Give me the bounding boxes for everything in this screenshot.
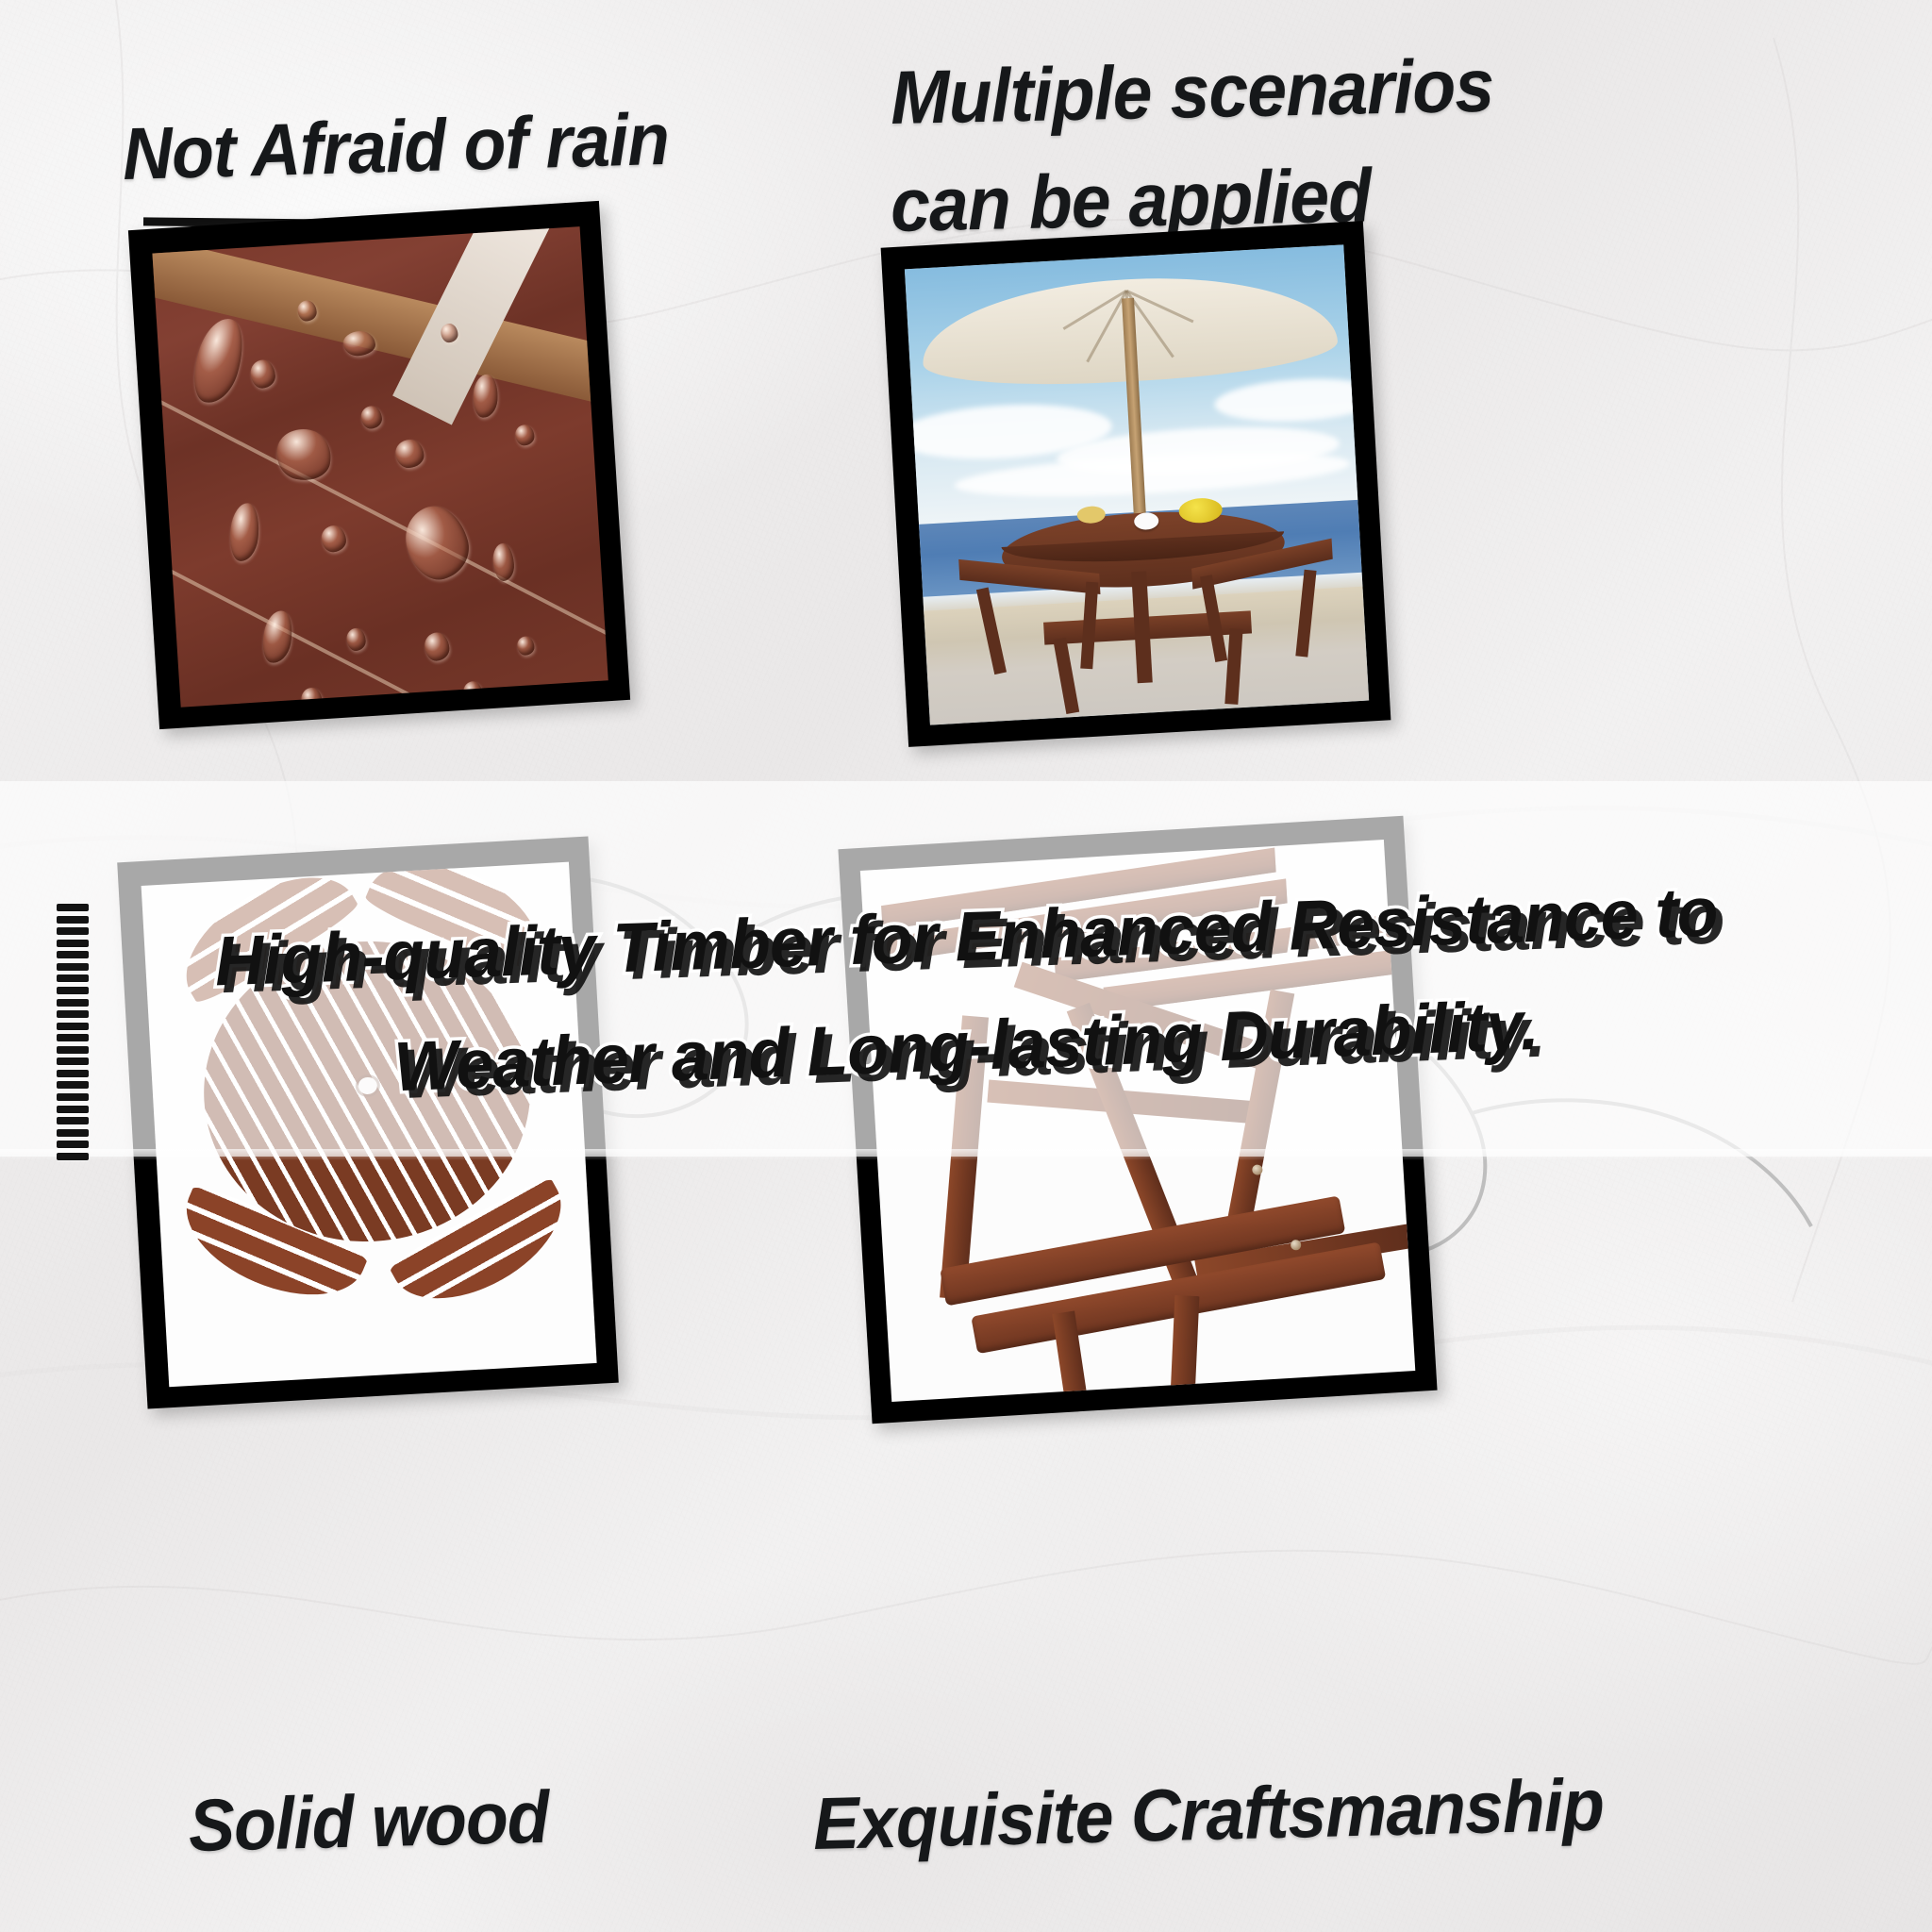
heading-multiple-scenarios-line1: Multiple scenarios: [890, 42, 1494, 142]
photo-water-beading: [152, 226, 608, 708]
dash-mark: [57, 1023, 89, 1030]
poster-canvas: Not Afraid of rain Multiple scenarios ca…: [0, 0, 1932, 1932]
dash-mark: [57, 1129, 89, 1137]
dash-mark: [57, 904, 89, 911]
dash-mark: [57, 916, 89, 924]
dash-mark: [57, 1010, 89, 1018]
heading-not-afraid-of-rain: Not Afraid of rain: [122, 96, 670, 197]
dash-mark: [57, 1141, 89, 1148]
photo-frame-water-beading: [128, 201, 630, 729]
dash-mark: [57, 1153, 89, 1160]
screw-head: [1252, 1164, 1263, 1175]
overlay-band-fade: [0, 1149, 1932, 1160]
photo-beach-umbrella: [905, 244, 1369, 724]
photo-frame-beach-umbrella: [881, 221, 1391, 747]
caption-solid-wood: Solid wood: [188, 1774, 550, 1869]
